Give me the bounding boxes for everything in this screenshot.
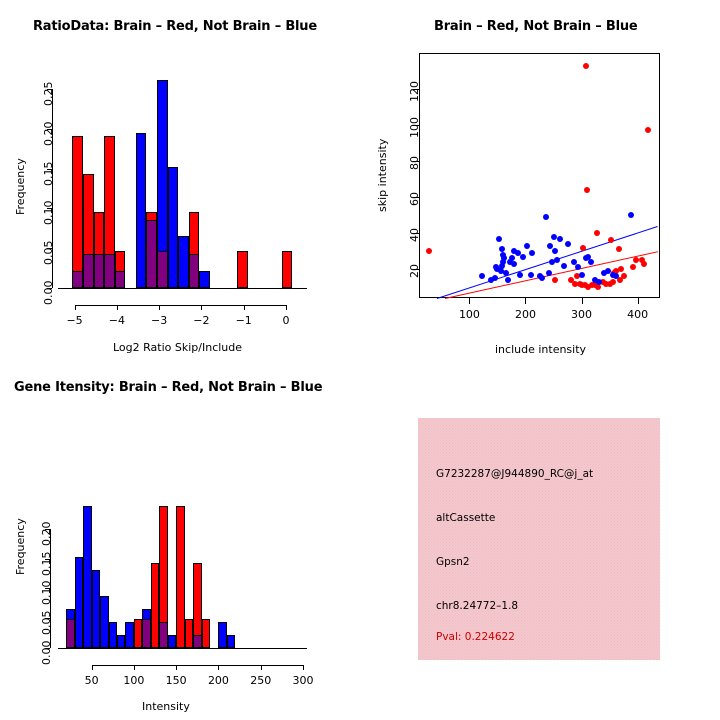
hist-bar-blue (75, 557, 83, 648)
hist-xtick (134, 665, 135, 670)
hist-bar-overlap (157, 251, 168, 288)
scatter-point-red (580, 245, 586, 251)
gene-symbol-text: Gpsn2 (436, 556, 470, 568)
hist-bar-blue (125, 622, 133, 648)
ratio-hist-ylabel: Frequency (14, 158, 27, 215)
hist-ytick-label: 0.05 (40, 611, 53, 636)
hist-bar-blue (227, 635, 235, 648)
hist-bar-blue (178, 236, 189, 288)
hist-xtick-label: 150 (166, 674, 187, 687)
scatter-point-blue (517, 272, 523, 278)
hist-bar-blue (92, 570, 100, 648)
hist-xtick (201, 305, 202, 310)
hist-bar-red (202, 619, 210, 648)
hist-bar-blue (136, 133, 147, 288)
hist-ytick-label: 0.10 (40, 581, 53, 606)
scatter-xtick (582, 298, 583, 304)
hist-bar-overlap (142, 619, 150, 648)
scatter-point-blue (496, 236, 502, 242)
event-type-text: altCassette (436, 512, 495, 524)
hist-bar-blue (218, 622, 226, 648)
pval-text: Pval: 0.224622 (436, 631, 515, 643)
hist-xtick (75, 305, 76, 310)
scatter-point-blue (520, 254, 526, 260)
hist-xtick (303, 665, 304, 670)
scatter-point-red (552, 277, 558, 283)
scatter-point-blue (551, 234, 557, 240)
scatter-point-red (616, 246, 622, 252)
scatter-point-red (610, 279, 616, 285)
hist-xtick-label: 300 (293, 674, 314, 687)
hist-baseline (58, 288, 307, 289)
hist-xtick (92, 665, 93, 670)
hist-bar-overlap (189, 254, 200, 288)
hist-bar-red (72, 136, 83, 288)
scatter-point-blue (628, 212, 634, 218)
hist-ytick-label: 0.20 (42, 121, 55, 146)
panel-intensity-scatter: Brain – Red, Not Brain – Blue 2040608010… (360, 0, 720, 360)
scatter-xtick-label: 100 (459, 308, 480, 321)
scatter-point-blue (505, 277, 511, 283)
hist-xtick-label: −4 (109, 314, 125, 327)
hist-bar-red (151, 563, 159, 648)
hist-xtick (244, 305, 245, 310)
scatter-xtick-label: 300 (571, 308, 592, 321)
hist-xtick (218, 665, 219, 670)
r-plot-canvas: RatioData: Brain – Red, Not Brain – Blue… (0, 0, 720, 720)
hist-bar-red (282, 251, 293, 288)
hist-bar-overlap (115, 271, 126, 288)
scatter-point-blue (552, 248, 558, 254)
scatter-point-blue (554, 257, 560, 263)
scatter-point-blue (524, 243, 530, 249)
scatter-point-red (584, 187, 590, 193)
hist-bar-red (185, 619, 193, 648)
panel-gene-intensity-histogram: Gene Itensity: Brain – Red, Not Brain – … (0, 360, 360, 720)
hist-xtick-label: −5 (66, 314, 82, 327)
hist-xtick-label: 0 (282, 314, 289, 327)
scatter-point-red (572, 281, 578, 287)
hist-xtick-label: 100 (123, 674, 144, 687)
hist-xtick (261, 665, 262, 670)
hist-xtick-label: 50 (85, 674, 99, 687)
hist-bar-overlap (94, 254, 105, 288)
scatter-xtick (525, 298, 526, 304)
probe-info-panel: G7232287@J944890_RC@j_at altCassette Gps… (418, 418, 660, 660)
scatter-point-red (583, 63, 589, 69)
hist-bar-red (176, 506, 184, 648)
scatter-point-blue (588, 259, 594, 265)
hist-bar-blue (168, 635, 176, 648)
hist-bar-overlap (146, 220, 157, 288)
hist-xtick-label: −1 (236, 314, 252, 327)
gene-hist-xlabel: Intensity (142, 700, 190, 713)
hist-bar-overlap (66, 619, 74, 648)
hist-ytick-label: 0.05 (42, 241, 55, 266)
hist-ytick-label: 0.10 (42, 201, 55, 226)
scatter-xtick (638, 298, 639, 304)
hist-bar-blue (117, 635, 125, 648)
hist-ytick-label: 0.25 (42, 81, 55, 106)
hist-bar-blue (100, 596, 108, 648)
scatter-ylabel: skip intensity (376, 139, 389, 212)
locus-text: chr8.24772–1.8 (436, 600, 518, 612)
hist-xtick (117, 305, 118, 310)
panel-ratio-histogram: RatioData: Brain – Red, Not Brain – Blue… (0, 0, 360, 360)
hist-xtick (176, 665, 177, 670)
scatter-frame (419, 53, 660, 298)
hist-xtick-label: 250 (250, 674, 271, 687)
scatter-xtick-label: 400 (627, 308, 648, 321)
scatter-point-blue (543, 214, 549, 220)
hist-xtick-label: −2 (193, 314, 209, 327)
ratio-hist-xlabel: Log2 Ratio Skip/Include (113, 341, 242, 354)
ratio-hist-plot-area: 0.000.050.100.150.200.25−5−4−3−2−10 (0, 0, 360, 360)
hist-ytick-label: 0.20 (40, 521, 53, 546)
scatter-point-blue (561, 263, 567, 269)
hist-xaxis-spine (92, 665, 303, 666)
probe-id-text: G7232287@J944890_RC@j_at (436, 468, 593, 480)
hist-bar-blue (168, 167, 179, 288)
hist-xtick (159, 305, 160, 310)
hist-xtick-label: −3 (151, 314, 167, 327)
hist-bar-overlap (193, 635, 201, 648)
hist-bar-blue (83, 506, 91, 648)
scatter-xlabel: include intensity (495, 343, 586, 356)
scatter-plot-area: 20406080100120100200300400 (360, 0, 720, 360)
hist-bar-overlap (83, 254, 94, 288)
hist-bar-overlap (159, 622, 167, 648)
hist-bar-blue (109, 622, 117, 648)
gene-hist-ylabel: Frequency (14, 518, 27, 575)
hist-bar-red (237, 251, 248, 288)
gene-hist-plot-area: 0.000.050.100.150.2050100150200250300 (0, 360, 360, 720)
hist-ytick-label: 0.15 (40, 551, 53, 576)
scatter-point-blue (546, 270, 552, 276)
hist-bar-red (134, 619, 142, 648)
scatter-point-blue (579, 272, 585, 278)
hist-xtick (286, 305, 287, 310)
hist-bar-overlap (104, 254, 115, 288)
scatter-point-blue (528, 272, 534, 278)
hist-bar-overlap (72, 271, 83, 288)
hist-bar-blue (199, 271, 210, 288)
hist-ytick-label: 0.15 (42, 161, 55, 186)
scatter-point-blue (565, 241, 571, 247)
scatter-xtick-label: 200 (515, 308, 536, 321)
scatter-point-blue (557, 236, 563, 242)
scatter-xtick (469, 298, 470, 304)
hist-ytick-label: 0.00 (42, 281, 55, 306)
hist-xaxis-spine (75, 305, 286, 306)
hist-xtick-label: 200 (208, 674, 229, 687)
hist-baseline (58, 648, 307, 649)
hist-ytick-label: 0.00 (40, 641, 53, 666)
